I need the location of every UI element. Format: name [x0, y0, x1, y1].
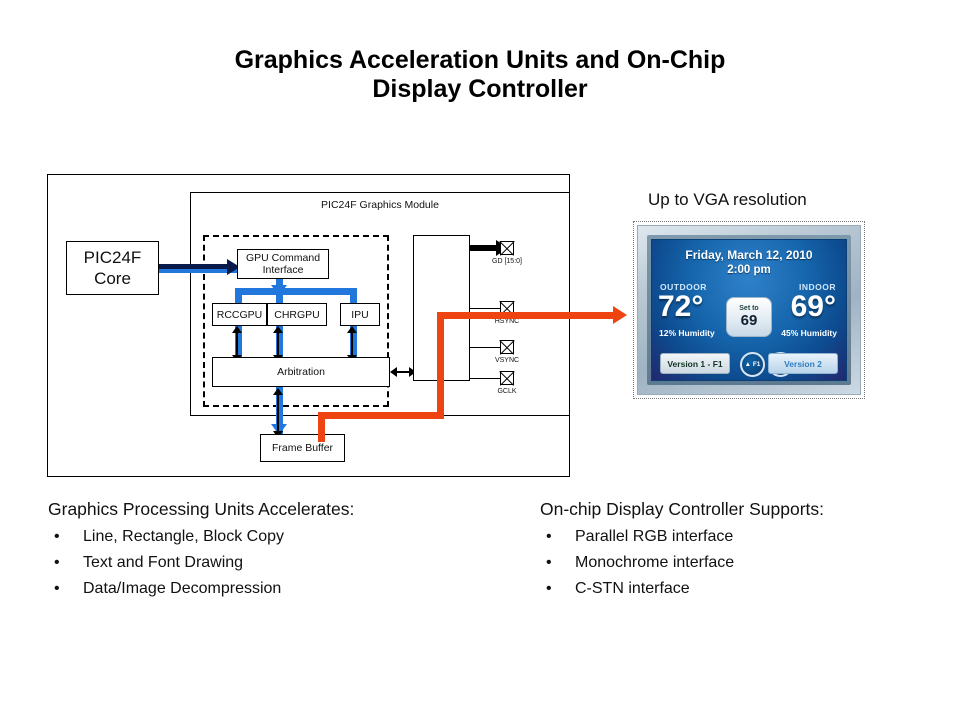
arbitration-block: Arbitration [212, 357, 390, 387]
pin-hsync-label: HSYNC [480, 318, 534, 325]
red-flow-horizontal-upper [437, 312, 615, 319]
core-to-gci-arrow-shaft [159, 264, 229, 269]
list-item-label: Monochrome interface [575, 554, 734, 571]
gpu-block-ipu-label: IPU [351, 309, 369, 321]
arbitration-label: Arbitration [277, 366, 325, 378]
bullet-icon: • [54, 576, 60, 602]
display-screen: Friday, March 12, 2010 2:00 pm OUTDOOR 7… [651, 239, 847, 381]
bullet-icon: • [54, 550, 60, 576]
arrow-arbitration-displayctl [396, 371, 410, 373]
list-item-label: C-STN interface [575, 580, 690, 597]
screen-indoor-temp: 69° [791, 290, 836, 324]
list-item: •Text and Font Drawing [48, 550, 518, 576]
page-title-line2: Display Controller [0, 75, 960, 104]
blue-flow-bus-horizontal [235, 288, 357, 295]
gpu-block-rccgpu-label: RCCGPU [217, 309, 263, 321]
bullet-icon: • [546, 576, 552, 602]
right-feature-column: On-chip Display Controller Supports: •Pa… [540, 498, 940, 602]
gpu-block-rccgpu: RCCGPU [212, 303, 267, 326]
list-item-label: Parallel RGB interface [575, 528, 733, 545]
blue-arrowhead-gci [271, 285, 287, 296]
pin-gclk-label: GCLK [480, 388, 534, 395]
red-flow-arrow-head [613, 306, 627, 324]
list-item: •Parallel RGB interface [540, 524, 940, 550]
list-item: •Line, Rectangle, Block Copy [48, 524, 518, 550]
bullet-icon: • [546, 550, 552, 576]
screen-setpoint-button[interactable]: Set to 69 [726, 297, 772, 337]
list-item-label: Data/Image Decompression [83, 580, 281, 597]
left-feature-column: Graphics Processing Units Accelerates: •… [48, 498, 518, 602]
screen-time: 2:00 pm [652, 264, 846, 276]
frame-buffer-label: Frame Buffer [272, 442, 333, 454]
pic24f-core-line2: Core [94, 269, 131, 288]
left-column-heading: Graphics Processing Units Accelerates: [48, 498, 518, 520]
bullet-icon: • [54, 524, 60, 550]
slide-root: Graphics Acceleration Units and On-Chip … [0, 0, 960, 720]
list-item: •C-STN interface [540, 576, 940, 602]
gpu-block-ipu: IPU [340, 303, 380, 326]
gci-line2: Interface [263, 264, 304, 276]
right-column-heading: On-chip Display Controller Supports: [540, 498, 940, 520]
screen-indoor-humidity: 45% Humidity [781, 328, 837, 338]
graphics-module-label: PIC24F Graphics Module [190, 199, 570, 211]
vga-resolution-caption: Up to VGA resolution [648, 190, 807, 210]
screen-setpoint-value: 69 [741, 313, 758, 329]
arrow-ipu-arbitration [351, 332, 353, 356]
arrow-rcc-arbitration [236, 332, 238, 356]
gpu-block-chrgpu: CHRGPU [267, 303, 327, 326]
lcd-display-photo: Friday, March 12, 2010 2:00 pm OUTDOOR 7… [633, 221, 865, 399]
gpu-command-interface-block: GPU Command Interface [237, 249, 329, 279]
list-item-label: Text and Font Drawing [83, 554, 243, 571]
pin-gclk [500, 371, 514, 385]
screen-up-button[interactable]: ▲ F1 [740, 352, 765, 377]
arrow-arbitration-framebuffer [277, 394, 279, 432]
bullet-icon: • [546, 524, 552, 550]
pic24f-core-block: PIC24F Core [66, 241, 159, 295]
red-flow-vertical-riser [437, 312, 444, 412]
list-item: •Monochrome interface [540, 550, 940, 576]
pin-gd-label: GD [15:0] [480, 258, 534, 265]
list-item: •Data/Image Decompression [48, 576, 518, 602]
red-flow-horizontal-lower [318, 412, 444, 419]
pin-vsync [500, 340, 514, 354]
gci-line1: GPU Command [246, 252, 320, 264]
pin-gd [500, 241, 514, 255]
screen-version2-button[interactable]: Version 2 [768, 353, 838, 374]
right-column-list: •Parallel RGB interface •Monochrome inte… [540, 524, 940, 602]
pic24f-core-line1: PIC24F [84, 248, 142, 267]
screen-outdoor-temp: 72° [658, 290, 703, 324]
left-column-list: •Line, Rectangle, Block Copy •Text and F… [48, 524, 518, 602]
arrow-chr-arbitration [277, 332, 279, 356]
screen-date: Friday, March 12, 2010 [652, 248, 846, 262]
screen-outdoor-humidity: 12% Humidity [659, 328, 715, 338]
pin-vsync-label: VSYNC [480, 357, 534, 364]
display-bezel-inner: Friday, March 12, 2010 2:00 pm OUTDOOR 7… [647, 235, 851, 385]
list-item-label: Line, Rectangle, Block Copy [83, 528, 284, 545]
screen-button-row: Version 1 - F1 ▲ F1 ▼ F3 Version 2 [652, 352, 846, 374]
frame-buffer-block: Frame Buffer [260, 434, 345, 462]
display-bezel-outer: Friday, March 12, 2010 2:00 pm OUTDOOR 7… [637, 225, 861, 395]
screen-version1-button[interactable]: Version 1 - F1 [660, 353, 730, 374]
page-title: Graphics Acceleration Units and On-Chip … [0, 46, 960, 104]
page-title-line1: Graphics Acceleration Units and On-Chip [235, 46, 726, 74]
gpu-block-chrgpu-label: CHRGPU [274, 309, 320, 321]
